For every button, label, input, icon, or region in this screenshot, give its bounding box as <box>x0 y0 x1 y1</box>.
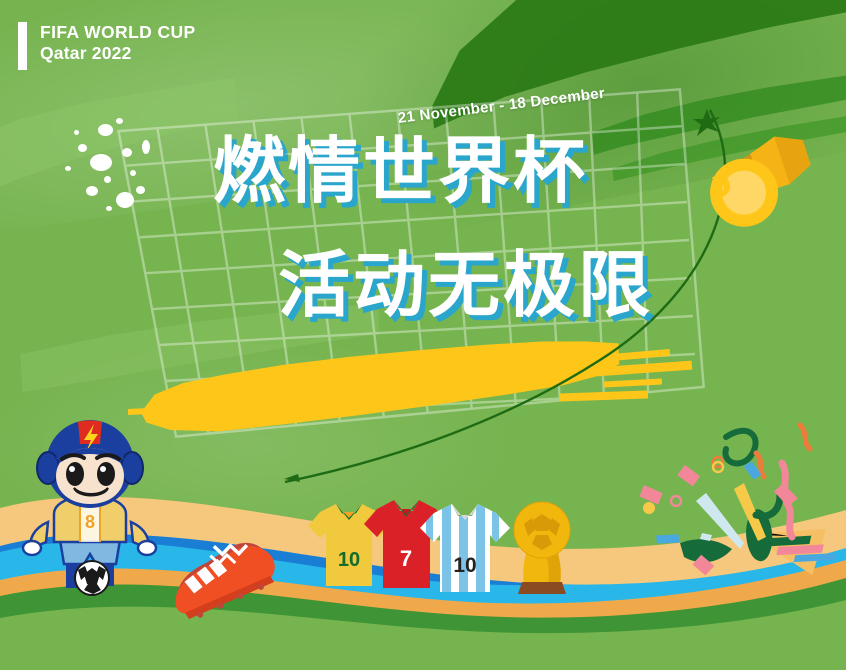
header: FIFA WORLD CUP Qatar 2022 <box>18 22 196 70</box>
header-title: FIFA WORLD CUP <box>40 22 196 43</box>
trophy-icon <box>500 498 584 598</box>
headline-line-2: 活动无极限 <box>278 250 653 322</box>
jersey-number: 7 <box>400 546 412 571</box>
argentina-jersey: 10 <box>418 500 512 596</box>
header-text: FIFA WORLD CUP Qatar 2022 <box>40 22 196 65</box>
jersey-number: 10 <box>453 554 476 577</box>
party-popper-icon <box>640 415 846 605</box>
paint-splatter <box>60 110 170 220</box>
jersey-number: 10 <box>338 549 360 571</box>
headline-line-1: 燃情世界杯 <box>213 136 588 208</box>
soccer-boots-icon <box>160 528 292 620</box>
world-cup-poster: FIFA WORLD CUP Qatar 2022 21 November - … <box>0 0 846 670</box>
mascot-jersey-number: 8 <box>85 512 95 532</box>
header-accent-bar <box>18 22 27 70</box>
football-mascot: 8 <box>12 418 167 603</box>
whistle-icon <box>700 125 820 230</box>
header-subtitle: Qatar 2022 <box>40 43 196 64</box>
